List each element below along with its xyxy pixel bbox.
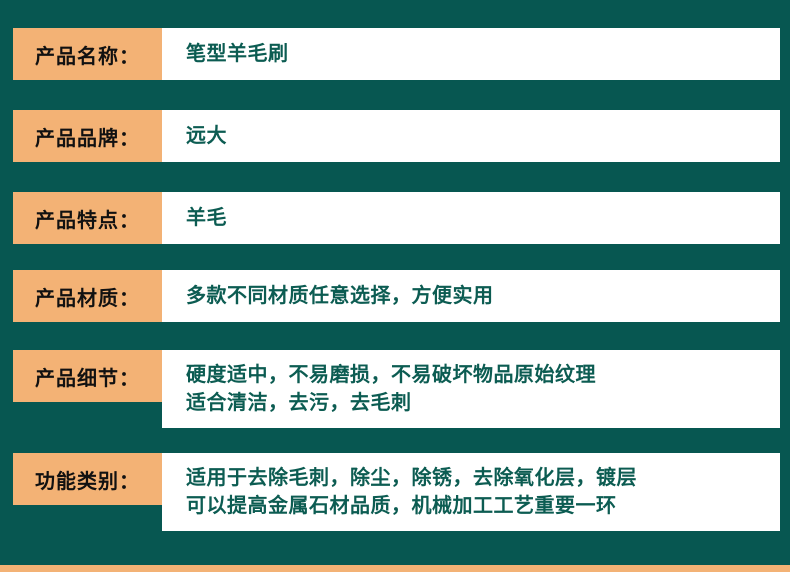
spec-value-product-features: 羊毛: [162, 192, 780, 244]
spec-value-line: 笔型羊毛刷: [186, 40, 780, 68]
spec-label-product-name: 产品名称：: [13, 28, 162, 80]
spec-label-product-material: 产品材质：: [13, 270, 162, 322]
spec-label-function-category: 功能类别：: [13, 453, 162, 505]
spec-value-line: 多款不同材质任意选择，方便实用: [186, 282, 780, 310]
spec-value-product-brand: 远大: [162, 110, 780, 162]
spec-value-line: 可以提高金属石材品质，机械加工工艺重要一环: [186, 492, 780, 520]
spec-value-product-name: 笔型羊毛刷: [162, 28, 780, 80]
spec-value-product-details: 硬度适中，不易磨损，不易破坏物品原始纹理 适合清洁，去污，去毛刺: [162, 350, 780, 428]
spec-value-product-material: 多款不同材质任意选择，方便实用: [162, 270, 780, 322]
spec-value-line: 适用于去除毛刺，除尘，除锈，去除氧化层，镀层: [186, 464, 780, 492]
spec-label-product-details: 产品细节：: [13, 350, 162, 402]
spec-value-line: 硬度适中，不易磨损，不易破坏物品原始纹理: [186, 361, 780, 389]
spec-value-line: 适合清洁，去污，去毛刺: [186, 389, 780, 417]
spec-value-line: 远大: [186, 122, 780, 150]
spec-value-function-category: 适用于去除毛刺，除尘，除锈，去除氧化层，镀层 可以提高金属石材品质，机械加工工艺…: [162, 453, 780, 531]
spec-label-product-features: 产品特点：: [13, 192, 162, 244]
spec-value-line: 羊毛: [186, 204, 780, 232]
bottom-accent-band: [0, 565, 790, 572]
spec-label-product-brand: 产品品牌：: [13, 110, 162, 162]
product-spec-sheet: 产品名称： 笔型羊毛刷 产品品牌： 远大 产品特点： 羊毛 产品材质： 多款不同…: [0, 0, 790, 572]
